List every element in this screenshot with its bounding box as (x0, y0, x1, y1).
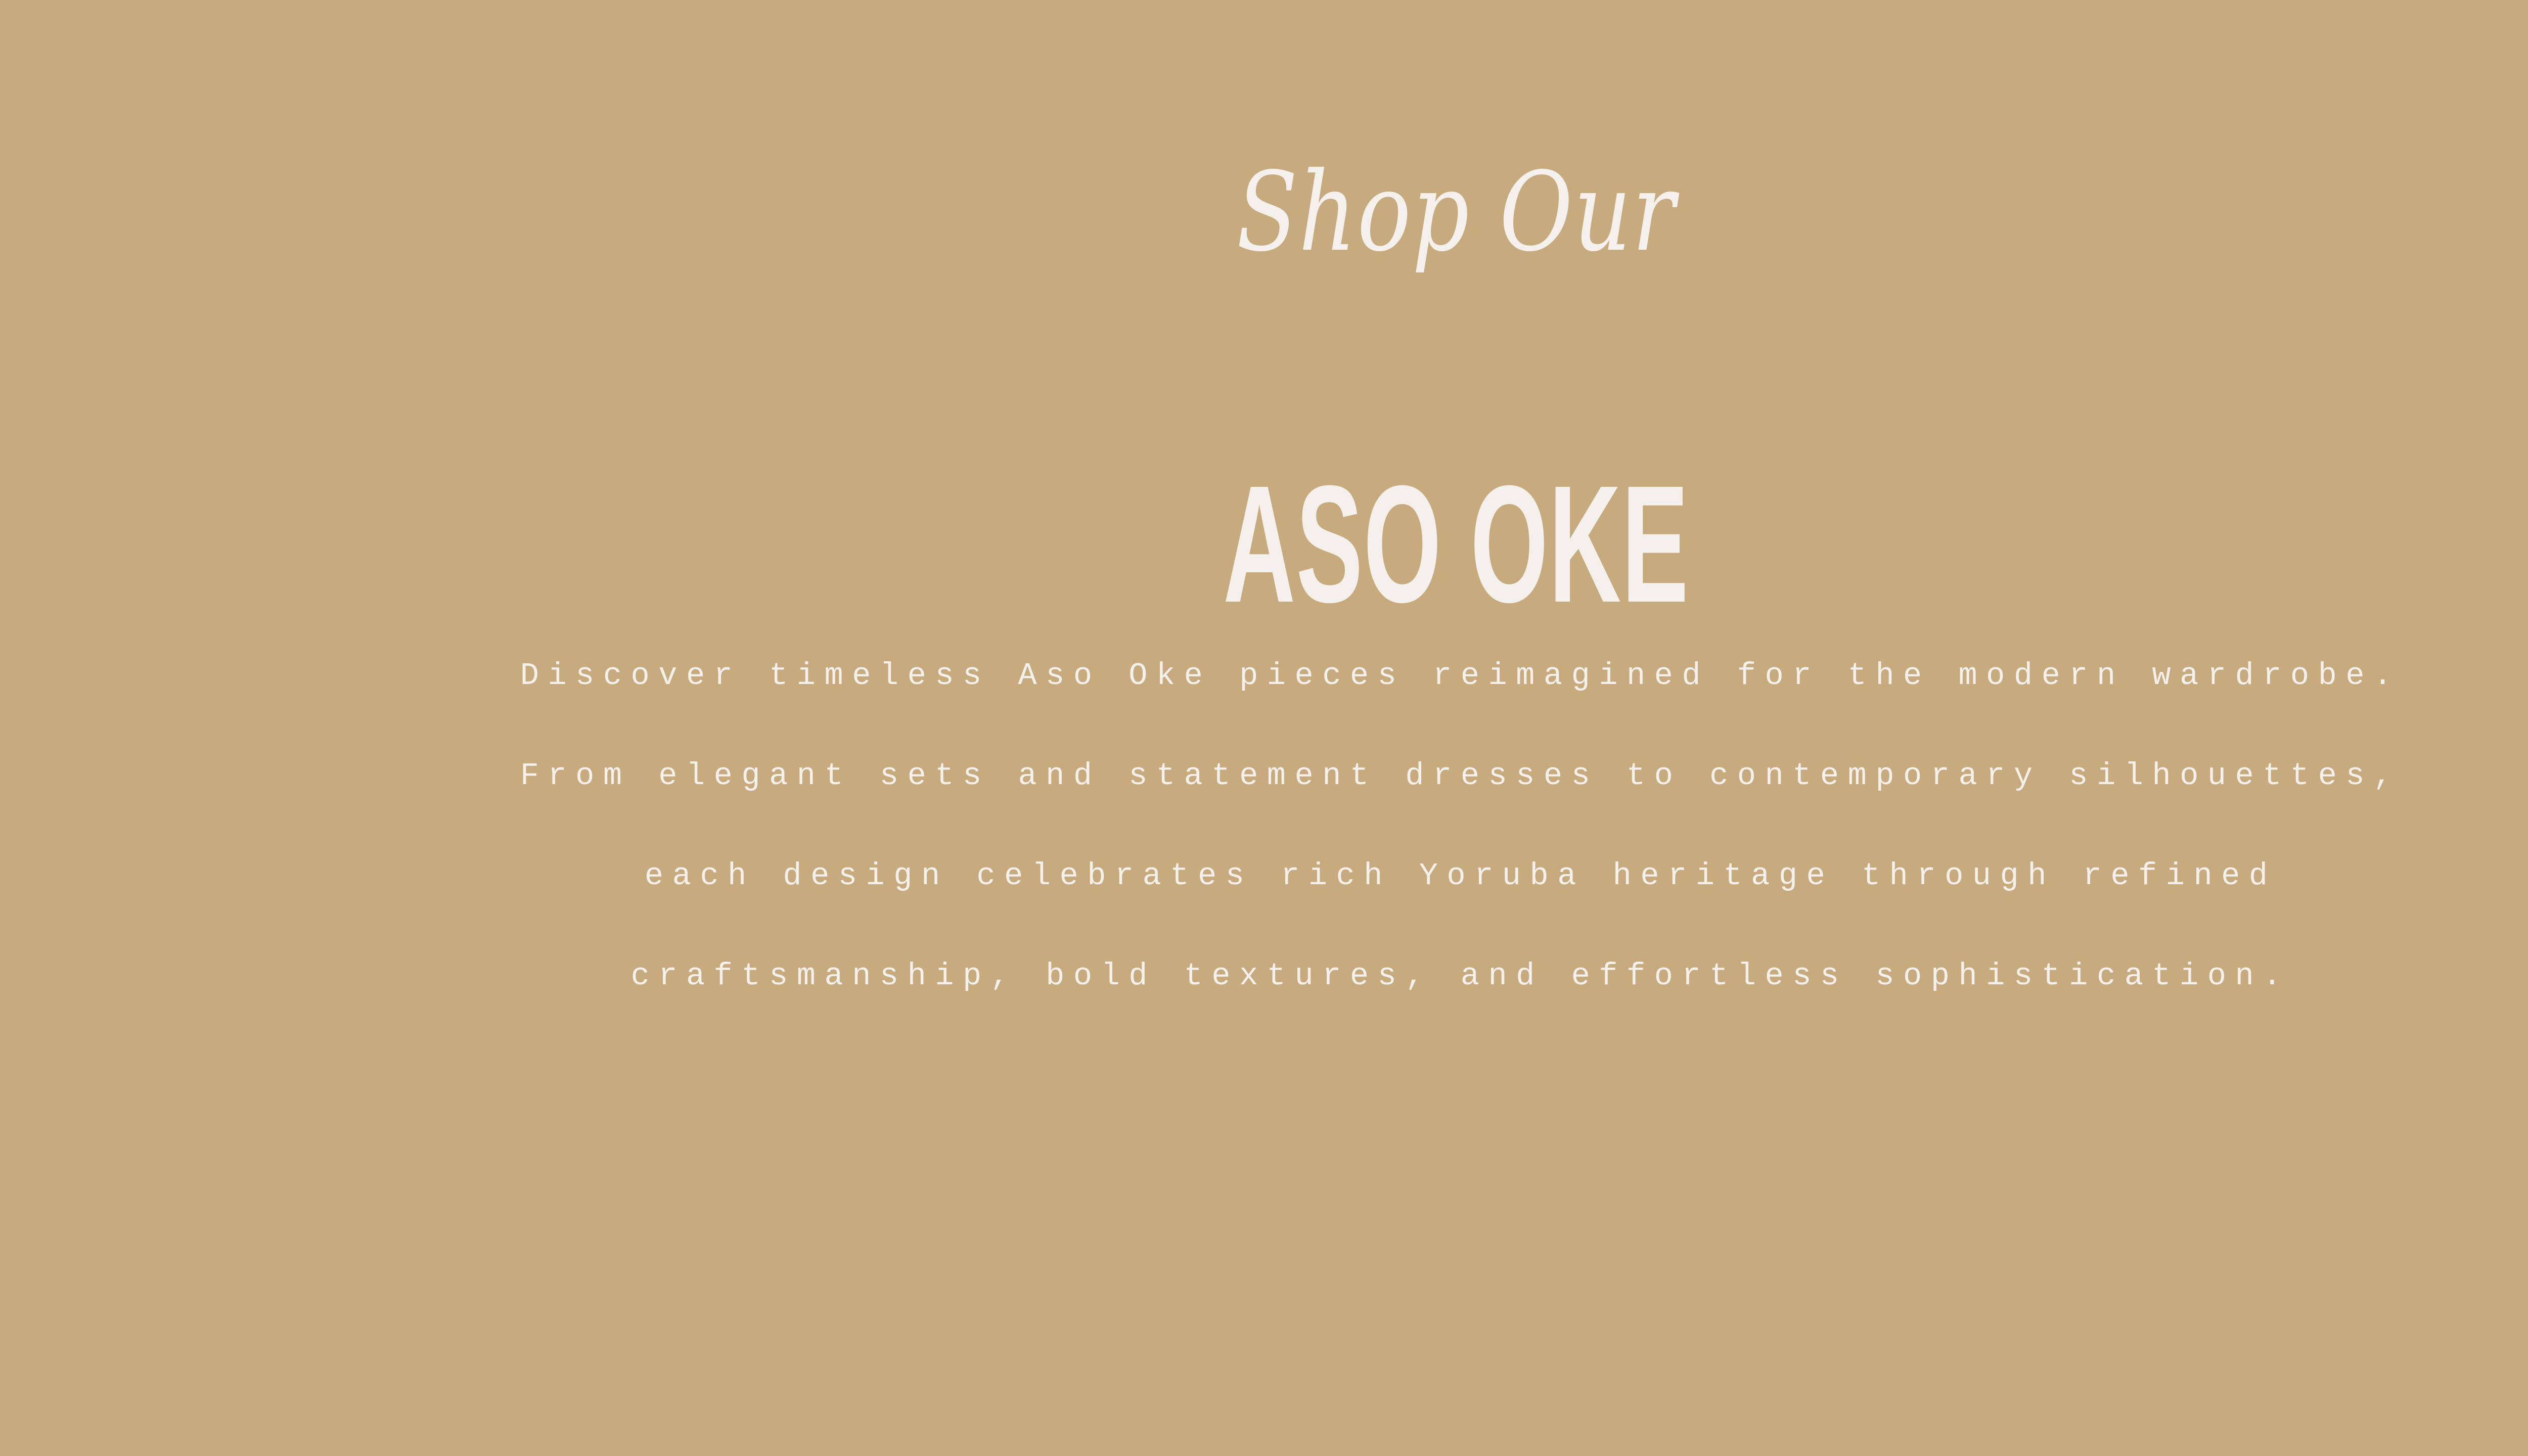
page-title: ASO OKE (582, 461, 2330, 627)
eyebrow-script-heading: Shop Our (262, 152, 2528, 273)
aso-oke-promo-banner: Shop Our ASO OKE Discover timeless Aso O… (0, 0, 2528, 1456)
description-line-2: From elegant sets and statement dresses … (0, 726, 2528, 826)
banner-description: Discover timeless Aso Oke pieces reimagi… (0, 626, 2528, 1026)
description-line-1: Discover timeless Aso Oke pieces reimagi… (0, 626, 2528, 726)
description-line-4: craftsmanship, bold textures, and effort… (0, 926, 2528, 1026)
description-line-3: each design celebrates rich Yoruba herit… (0, 826, 2528, 926)
